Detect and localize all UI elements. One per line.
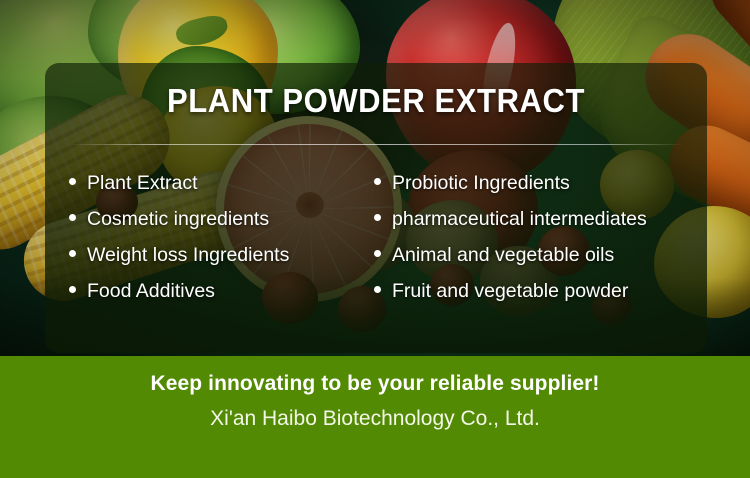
list-item: Plant Extract: [69, 171, 374, 195]
bullet-dot-icon: [374, 250, 381, 257]
footer-band: Keep innovating to be your reliable supp…: [0, 356, 750, 478]
bullet-dot-icon: [69, 214, 76, 221]
list-item: pharmaceutical intermediates: [374, 207, 707, 231]
list-item: Fruit and vegetable powder: [374, 279, 707, 303]
bullet-dot-icon: [69, 250, 76, 257]
bullet-dot-icon: [374, 214, 381, 221]
bullet-dot-icon: [374, 178, 381, 185]
list-item-label: Probiotic Ingredients: [392, 171, 570, 195]
list-item-label: Animal and vegetable oils: [392, 243, 614, 267]
list-item-label: Fruit and vegetable powder: [392, 279, 628, 303]
bullet-dot-icon: [69, 286, 76, 293]
list-item: Cosmetic ingredients: [69, 207, 374, 231]
list-item-label: pharmaceutical intermediates: [392, 207, 647, 231]
category-column-right: Probiotic Ingredients pharmaceutical int…: [374, 171, 707, 315]
title-divider: [68, 144, 684, 145]
list-item-label: Cosmetic ingredients: [87, 207, 269, 231]
list-item: Probiotic Ingredients: [374, 171, 707, 195]
tagline-text: Keep innovating to be your reliable supp…: [0, 356, 750, 396]
product-category-columns: Plant Extract Cosmetic ingredients Weigh…: [45, 171, 707, 315]
bullet-dot-icon: [69, 178, 76, 185]
page-title: PLANT POWDER EXTRACT: [65, 82, 687, 120]
content-panel: PLANT POWDER EXTRACT Plant Extract Cosme…: [45, 63, 707, 353]
category-column-left: Plant Extract Cosmetic ingredients Weigh…: [45, 171, 374, 315]
company-name: Xi'an Haibo Biotechnology Co., Ltd.: [0, 396, 750, 431]
list-item-label: Food Additives: [87, 279, 215, 303]
list-item: Weight loss Ingredients: [69, 243, 374, 267]
list-item: Animal and vegetable oils: [374, 243, 707, 267]
list-item-label: Weight loss Ingredients: [87, 243, 289, 267]
list-item: Food Additives: [69, 279, 374, 303]
bullet-dot-icon: [374, 286, 381, 293]
list-item-label: Plant Extract: [87, 171, 198, 195]
product-banner: PLANT POWDER EXTRACT Plant Extract Cosme…: [0, 0, 750, 478]
